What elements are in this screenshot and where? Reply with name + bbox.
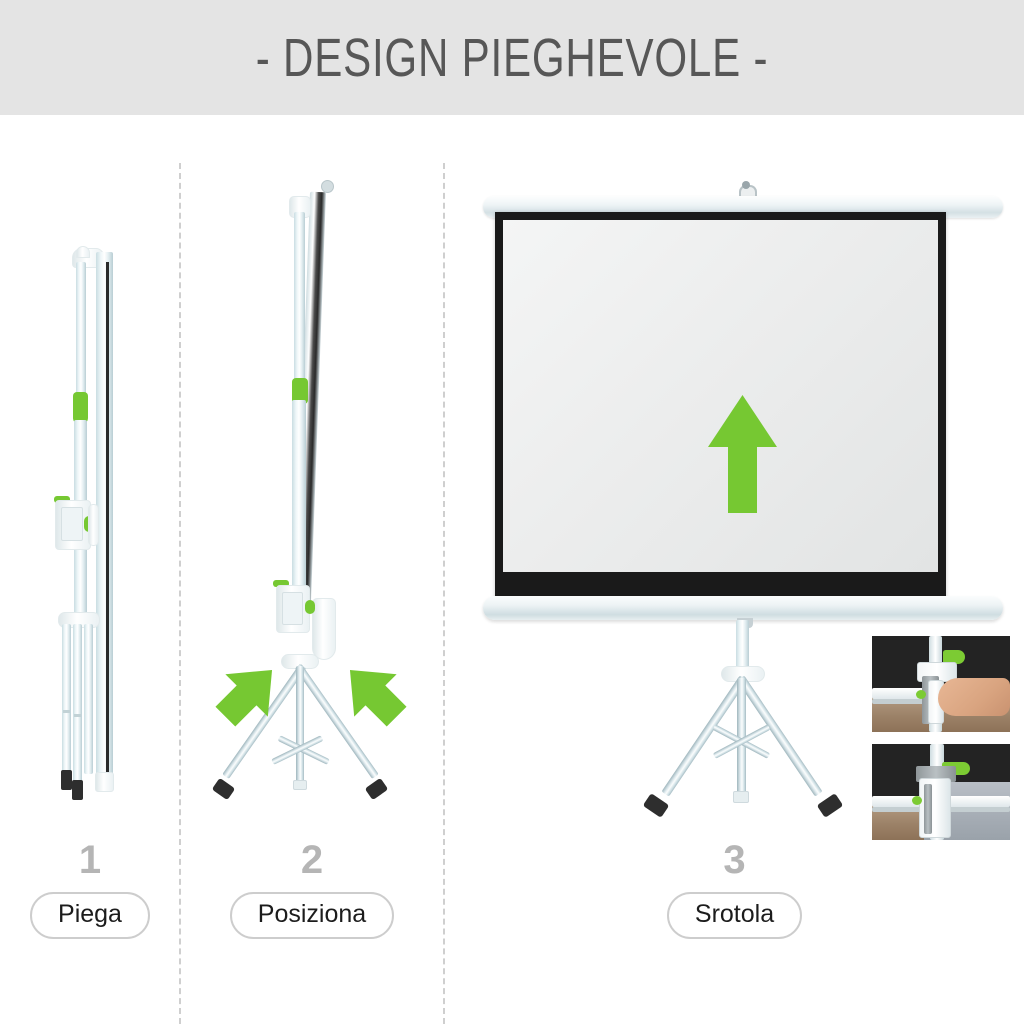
casing-bottom-cap xyxy=(95,772,114,792)
folded-leg-foot-2 xyxy=(72,780,83,800)
leg-brace-hub xyxy=(293,780,307,790)
leg-brace-pin-2 xyxy=(74,714,81,717)
step-label-1[interactable]: Piega xyxy=(30,892,150,939)
step-number-2: 2 xyxy=(301,840,323,880)
casing-top-hook xyxy=(76,246,90,258)
tripod-leg-center xyxy=(296,666,304,788)
arrow-up-icon xyxy=(708,395,777,513)
lever-clamp-window xyxy=(282,592,303,625)
folded-leg-1 xyxy=(62,624,71,774)
folded-leg-2 xyxy=(73,624,82,784)
upper-mast-pole xyxy=(294,212,305,387)
folded-leg-foot-1 xyxy=(61,770,72,790)
lever-clamp-window xyxy=(61,507,83,541)
step-caption-2: 2 Posiziona xyxy=(181,840,443,939)
step-number-3: 3 xyxy=(723,840,745,880)
clamp-green-knob xyxy=(305,600,315,614)
tripod-foot-left xyxy=(212,778,236,800)
step-label-3[interactable]: Srotola xyxy=(667,892,802,939)
clamp-hand-adjust-photo xyxy=(872,636,1010,732)
clamp-side-plate xyxy=(88,504,99,546)
step-caption-3: 3 Srotola xyxy=(445,840,1024,939)
screen-leg-brace-hub xyxy=(733,791,749,803)
tripod-foot-right xyxy=(365,778,389,800)
casing-seam xyxy=(106,262,109,784)
arrow-down-left-icon xyxy=(210,658,286,730)
infographic-page: - DESIGN PIEGHEVOLE - xyxy=(0,0,1024,1024)
step-label-2[interactable]: Posiziona xyxy=(230,892,394,939)
step-number-1: 1 xyxy=(79,840,101,880)
step-caption-1: 1 Piega xyxy=(0,840,180,939)
screen-hook-icon xyxy=(735,181,757,197)
mast-top-knob xyxy=(321,180,334,193)
screen-reel-bottom xyxy=(312,598,336,660)
clamp-closeup-photo xyxy=(872,744,1010,840)
leg-brace-pin-1 xyxy=(63,710,70,713)
folded-leg-3 xyxy=(84,624,93,774)
arrow-down-right-icon xyxy=(336,658,412,730)
screen-casing-bottom-bar xyxy=(483,596,1003,620)
